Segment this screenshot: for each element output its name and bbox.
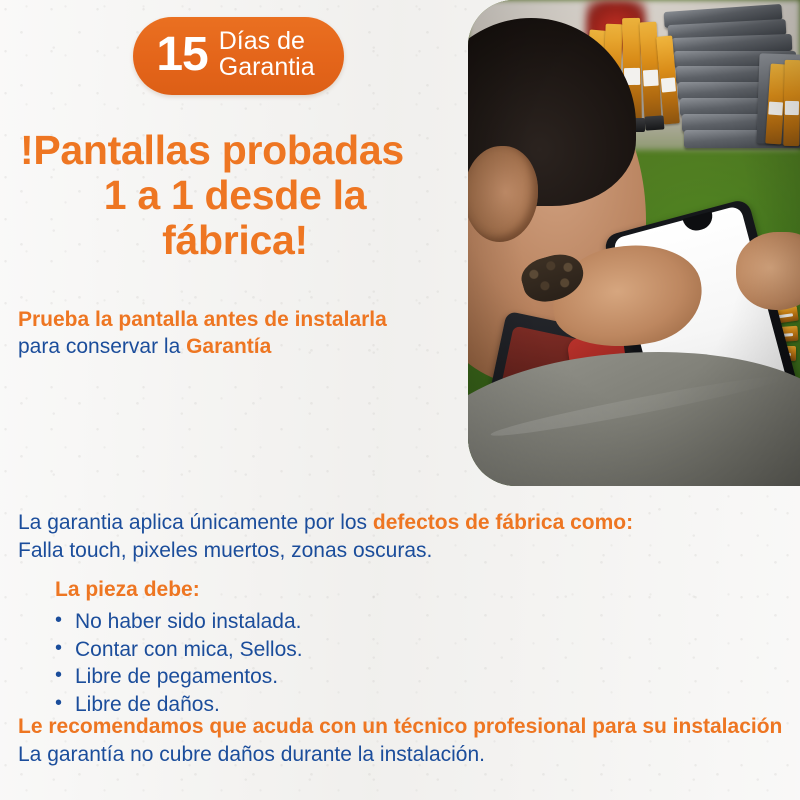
warranty-scope-text: La garantia aplica únicamente por los de… bbox=[18, 509, 786, 564]
headline-line-3: fábrica! bbox=[10, 218, 460, 263]
technician-photo: A23 bbox=[468, 0, 800, 486]
badge-line-2: Garantia bbox=[219, 55, 315, 81]
list-item: Contar con mica, Sellos. bbox=[55, 636, 303, 664]
installation-recommendation: Le recomendamos que acuda con un técnico… bbox=[18, 713, 788, 768]
subheading-line-1: Prueba la pantalla antes de instalarla bbox=[18, 307, 458, 334]
subheading-line-2: para conservar la Garantía bbox=[18, 334, 458, 361]
headline-line-1: !Pantallas probadas bbox=[10, 128, 460, 173]
photo-vignette bbox=[468, 0, 800, 486]
headline: !Pantallas probadas 1 a 1 desde la fábri… bbox=[10, 128, 460, 263]
conditions-list: No haber sido instalada. Contar con mica… bbox=[55, 608, 303, 719]
warranty-days-badge: 15 Días de Garantia bbox=[133, 17, 344, 95]
subheading: Prueba la pantalla antes de instalarla p… bbox=[18, 307, 458, 361]
list-item: Libre de pegamentos. bbox=[55, 663, 303, 691]
recommendation-strong: Le recomendamos que acuda con un técnico… bbox=[18, 715, 782, 738]
headline-line-2: 1 a 1 desde la bbox=[10, 173, 460, 218]
badge-number: 15 bbox=[156, 31, 207, 79]
badge-line-1: Días de bbox=[219, 29, 315, 55]
conditions-heading: La pieza debe: bbox=[55, 578, 200, 602]
warranty-defect-examples: Falla touch, pixeles muertos, zonas oscu… bbox=[18, 537, 786, 565]
warranty-scope-emphasis: defectos de fábrica como: bbox=[373, 511, 633, 534]
list-item: No haber sido instalada. bbox=[55, 608, 303, 636]
recommendation-normal: La garantía no cubre daños durante la in… bbox=[18, 743, 485, 766]
warranty-scope-prefix: La garantia aplica únicamente por los bbox=[18, 511, 373, 534]
warranty-poster: 15 Días de Garantia bbox=[0, 0, 800, 800]
badge-text: Días de Garantia bbox=[219, 29, 315, 81]
subheading-prefix: para conservar la bbox=[18, 335, 186, 358]
subheading-emphasis: Garantía bbox=[186, 335, 271, 358]
